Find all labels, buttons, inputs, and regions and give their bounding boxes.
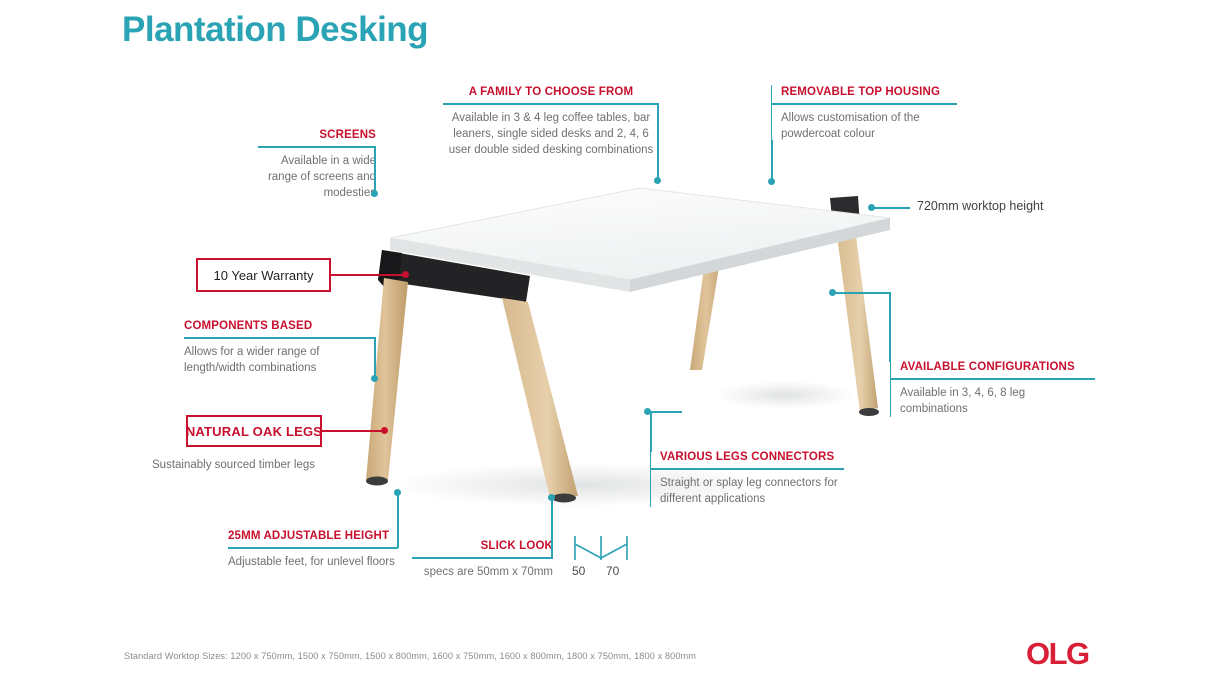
connector-slick-v xyxy=(551,498,553,558)
adjustable-foot-right xyxy=(859,408,879,416)
callout-configurations-title: AVAILABLE CONFIGURATIONS xyxy=(900,360,1095,374)
callout-configurations: AVAILABLE CONFIGURATIONS Available in 3,… xyxy=(890,360,1095,417)
leg-dimension-diagram: 50 70 xyxy=(572,534,632,584)
callout-family: A FAMILY TO CHOOSE FROM Available in 3 &… xyxy=(443,85,659,158)
connector-slick-dot xyxy=(548,494,555,501)
connector-connectors-v xyxy=(650,411,652,452)
floor-shadow-rear xyxy=(715,381,855,409)
connector-family-dot xyxy=(654,177,661,184)
adjustable-foot-center xyxy=(552,494,576,503)
connector-components-h xyxy=(332,337,376,339)
callout-slick-title: SLICK LOOK xyxy=(412,539,553,553)
callout-components: COMPONENTS BASED Allows for a wider rang… xyxy=(184,319,332,376)
callout-adjustable-body: Adjustable feet, for unlevel floors xyxy=(228,549,398,570)
olg-logo: OLG xyxy=(1026,638,1089,669)
connector-components-v xyxy=(374,337,376,379)
callout-housing-body: Allows customisation of the powdercoat c… xyxy=(781,105,957,142)
connector-adjustable-v xyxy=(397,493,399,548)
infographic-canvas: Plantation Desking xyxy=(0,0,1214,690)
connector-housing-v xyxy=(771,140,773,182)
dimension-width-value: 50 xyxy=(572,564,585,578)
connector-housing-dot xyxy=(768,178,775,185)
connector-adjustable-dot xyxy=(394,489,401,496)
footer-sizes: Standard Worktop Sizes: 1200 x 750mm, 15… xyxy=(124,651,696,661)
callout-connectors-title: VARIOUS LEGS CONNECTORS xyxy=(660,450,844,464)
oak-legs-caption: Sustainably sourced timber legs xyxy=(152,459,315,471)
connector-warranty-line xyxy=(331,274,405,276)
callout-adjustable: 25MM ADJUSTABLE HEIGHT Adjustable feet, … xyxy=(228,529,398,570)
dimension-depth-value: 70 xyxy=(606,564,619,578)
connector-components-dot xyxy=(371,375,378,382)
callout-housing: REMOVABLE TOP HOUSING Allows customisati… xyxy=(771,85,957,142)
callout-slick-body: specs are 50mm x 70mm xyxy=(412,559,553,580)
connector-connectors-h xyxy=(650,411,682,413)
connector-configurations-v xyxy=(889,292,891,362)
oak-legs-badge: NATURAL OAK LEGS xyxy=(186,415,322,447)
warranty-badge: 10 Year Warranty xyxy=(196,258,331,292)
connector-configurations-h xyxy=(835,292,891,294)
callout-slick: SLICK LOOK specs are 50mm x 70mm xyxy=(412,539,553,580)
connector-warranty-dot xyxy=(402,271,409,278)
callout-connectors-body: Straight or splay leg connectors for dif… xyxy=(660,470,844,507)
callout-screens-title: SCREENS xyxy=(258,128,376,142)
connector-screens-v xyxy=(374,146,376,194)
callout-family-body: Available in 3 & 4 leg coffee tables, ba… xyxy=(443,105,659,158)
callout-adjustable-title: 25MM ADJUSTABLE HEIGHT xyxy=(228,529,398,543)
dimension-arrows xyxy=(572,534,632,568)
adjustable-foot-left xyxy=(366,477,388,486)
connector-oak-line xyxy=(322,430,384,432)
callout-components-body: Allows for a wider range of length/width… xyxy=(184,339,332,376)
connector-oak-dot xyxy=(381,427,388,434)
connector-family-v xyxy=(657,103,659,181)
callout-screens-body: Available in a wide range of screens and… xyxy=(258,148,376,201)
worktop-height-note: 720mm worktop height xyxy=(917,199,1043,213)
callout-connectors: VARIOUS LEGS CONNECTORS Straight or spla… xyxy=(650,450,844,507)
warranty-badge-label: 10 Year Warranty xyxy=(214,268,314,283)
callout-configurations-body: Available in 3, 4, 6, 8 leg combinations xyxy=(900,380,1095,417)
desk-leg-front-right xyxy=(835,220,878,412)
callout-screens: SCREENS Available in a wide range of scr… xyxy=(258,128,376,201)
connector-worktop-line xyxy=(874,207,910,209)
oak-legs-badge-label: NATURAL OAK LEGS xyxy=(186,424,322,439)
callout-components-title: COMPONENTS BASED xyxy=(184,319,332,333)
connector-screens-dot xyxy=(371,190,378,197)
callout-housing-title: REMOVABLE TOP HOUSING xyxy=(781,85,957,99)
page-title: Plantation Desking xyxy=(122,10,428,50)
callout-family-title: A FAMILY TO CHOOSE FROM xyxy=(443,85,659,99)
